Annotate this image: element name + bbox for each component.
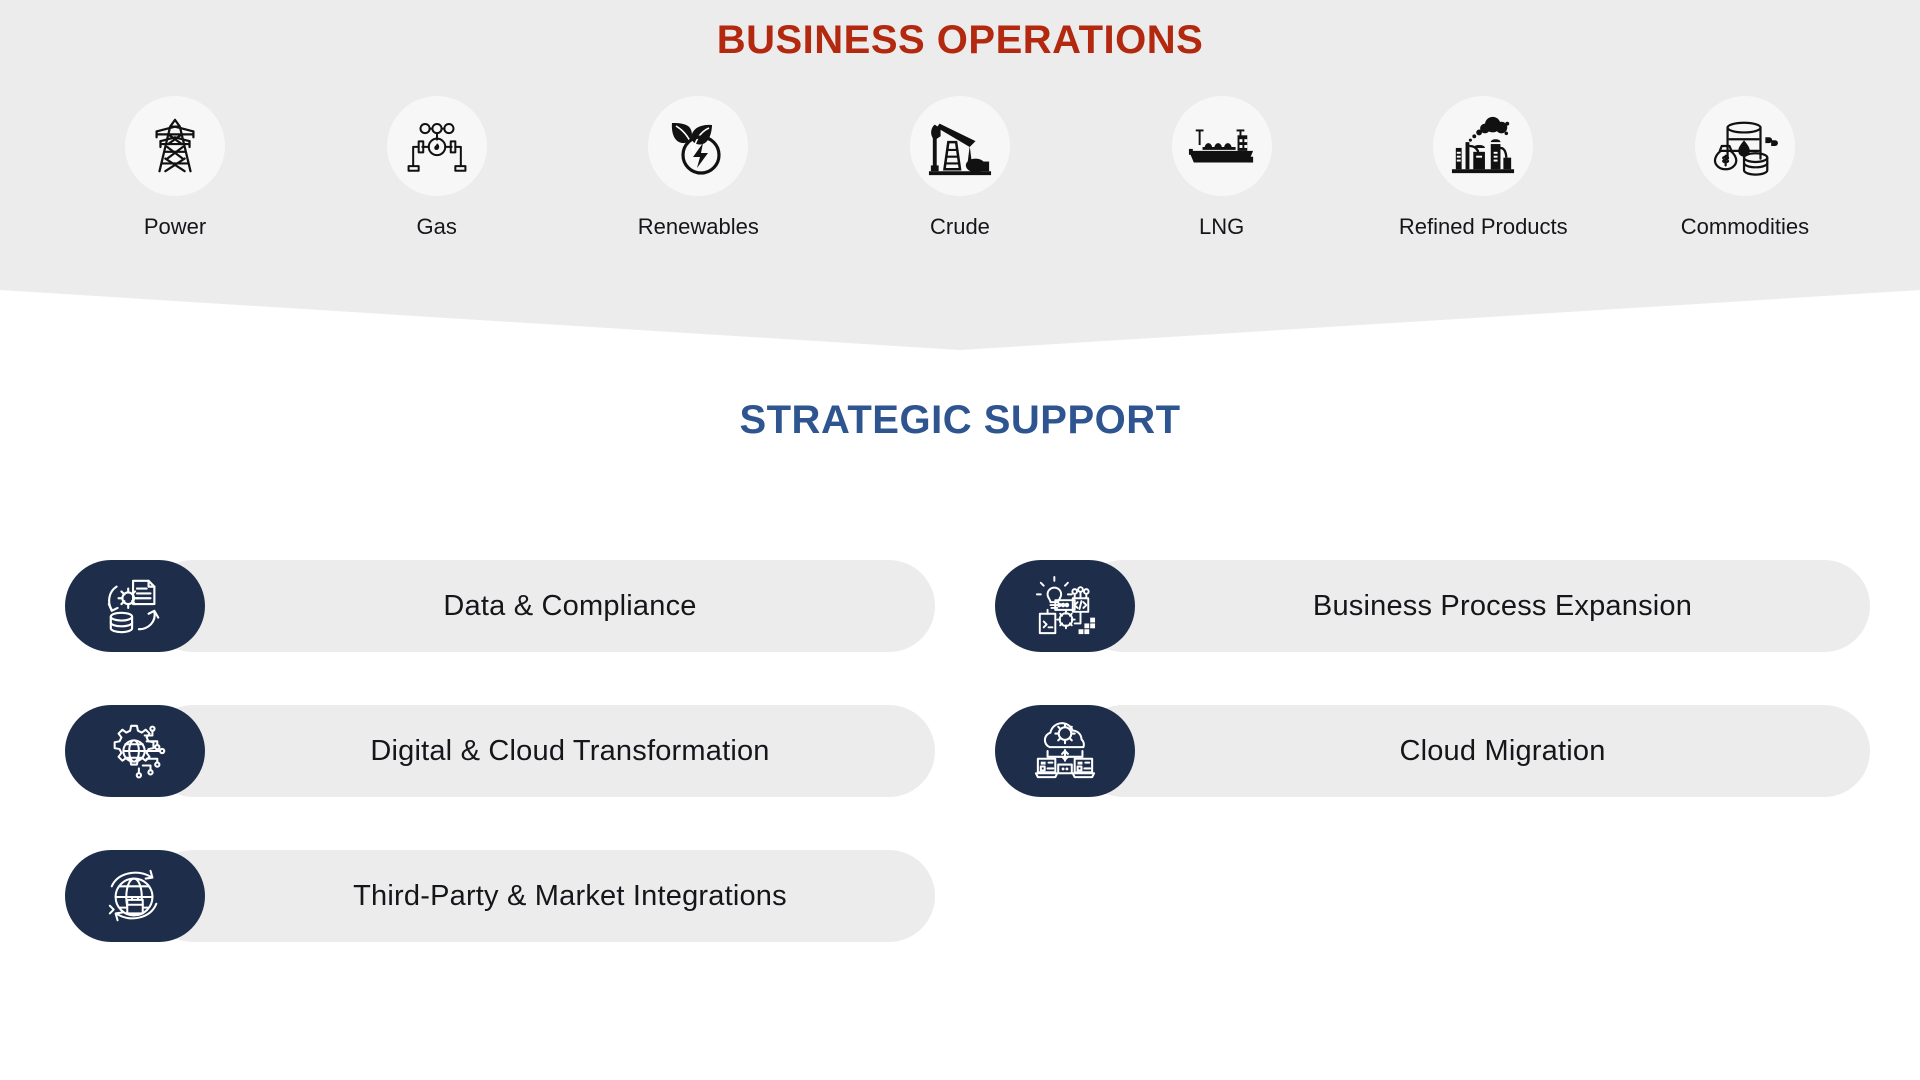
power-pylon-icon <box>125 96 225 196</box>
gear-globe-circuit-icon <box>65 705 205 797</box>
oil-barrel-money-bag-coins-icon <box>1695 96 1795 196</box>
business-operations-title: BUSINESS OPERATIONS <box>0 18 1920 63</box>
pill-body: Cloud Migration <box>1077 705 1870 797</box>
leaf-lightning-bolt-icon <box>648 96 748 196</box>
business-operations-row: Power Gas <box>60 96 1860 240</box>
gas-pipeline-valve-flame-icon <box>387 96 487 196</box>
support-pill-third-party-market-integrations[interactable]: Third-Party & Market Integrations <box>65 850 935 942</box>
infographic-page: BUSINESS OPERATIONS Power <box>0 0 1920 1080</box>
lng-tanker-ship-icon <box>1172 96 1272 196</box>
pill-body: Digital & Cloud Transformation <box>147 705 935 797</box>
strategic-support-title: STRATEGIC SUPPORT <box>0 398 1920 443</box>
ops-item-commodities[interactable]: Commodities <box>1630 96 1860 240</box>
ops-label: LNG <box>1199 214 1244 240</box>
pill-label: Digital & Cloud Transformation <box>370 735 769 768</box>
support-pill-digital-cloud-transformation[interactable]: Digital & Cloud Transformation <box>65 705 935 797</box>
ops-item-power[interactable]: Power <box>60 96 290 240</box>
globe-briefcase-arrows-icon <box>65 850 205 942</box>
ops-item-crude[interactable]: Crude <box>845 96 1075 240</box>
lightbulb-code-gear-terminal-icon <box>995 560 1135 652</box>
ops-item-renewables[interactable]: Renewables <box>583 96 813 240</box>
ops-label: Renewables <box>638 214 759 240</box>
pill-label: Business Process Expansion <box>1313 590 1692 623</box>
ops-item-refined-products[interactable]: Refined Products <box>1368 96 1598 240</box>
cloud-gear-servers-icon <box>995 705 1135 797</box>
pill-label: Cloud Migration <box>1399 735 1605 768</box>
refinery-plant-icon <box>1433 96 1533 196</box>
ops-item-lng[interactable]: LNG <box>1107 96 1337 240</box>
pill-label: Third-Party & Market Integrations <box>353 880 787 913</box>
ops-label: Refined Products <box>1399 214 1568 240</box>
ops-label: Crude <box>930 214 990 240</box>
pill-body: Data & Compliance <box>147 560 935 652</box>
pill-body: Third-Party & Market Integrations <box>147 850 935 942</box>
ops-item-gas[interactable]: Gas <box>322 96 552 240</box>
ops-label: Power <box>144 214 206 240</box>
support-pill-business-process-expansion[interactable]: Business Process Expansion <box>995 560 1870 652</box>
ops-label: Gas <box>416 214 456 240</box>
pill-body: Business Process Expansion <box>1077 560 1870 652</box>
oil-pumpjack-icon <box>910 96 1010 196</box>
ops-label: Commodities <box>1681 214 1809 240</box>
support-pill-data-compliance[interactable]: Data & Compliance <box>65 560 935 652</box>
strategic-support-grid: Data & Compliance <box>0 560 1920 960</box>
pill-label: Data & Compliance <box>443 590 696 623</box>
data-compliance-document-gear-database-icon <box>65 560 205 652</box>
support-pill-cloud-migration[interactable]: Cloud Migration <box>995 705 1870 797</box>
